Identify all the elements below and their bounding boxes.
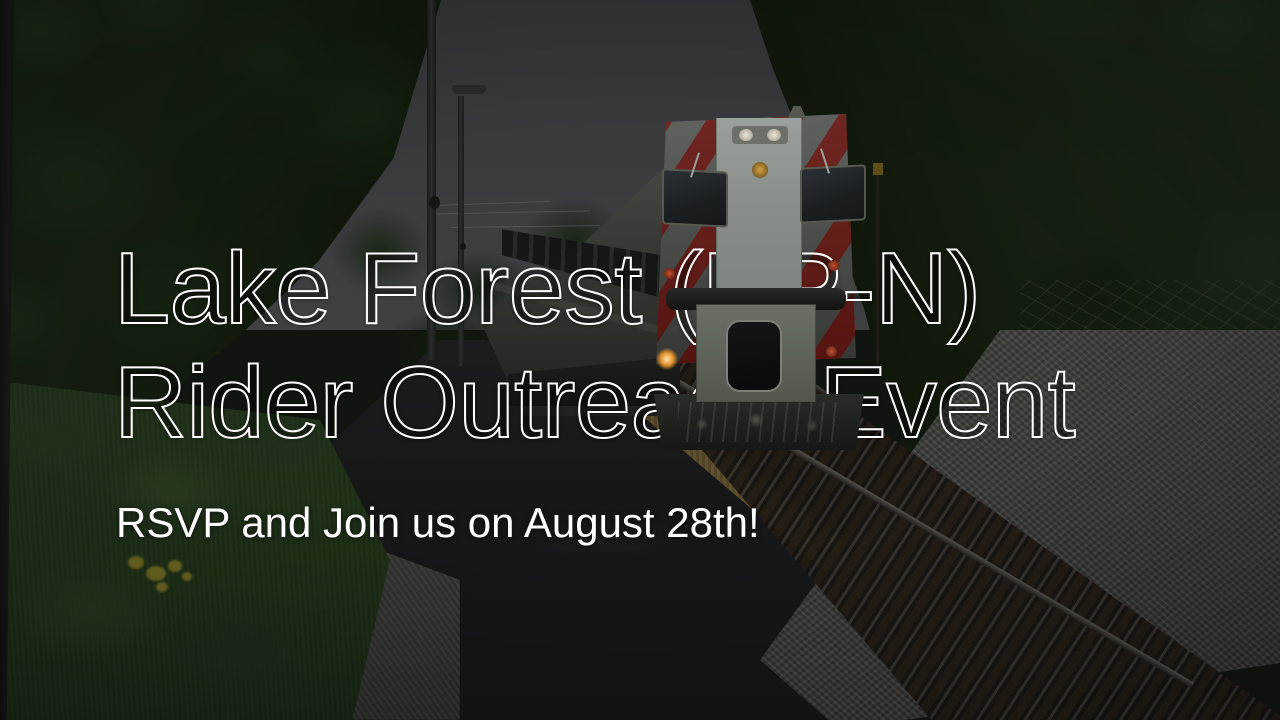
windshield-left [662,168,728,227]
wildflower [168,560,182,572]
headline-line-1: Lake Forest (UP-N) [114,232,1214,346]
train-horn [788,106,806,118]
signal-sign [873,163,883,175]
title-block: Lake Forest (UP-N) Rider Outreach Event … [114,232,1214,546]
marker-light [752,162,768,178]
side-marker-light [828,260,839,271]
slide-canvas: Lake Forest (UP-N) Rider Outreach Event … [0,0,1280,720]
wildflower [156,582,168,592]
headlight-lamp [739,129,753,141]
wildflower [128,556,144,569]
windshield-right [800,164,866,223]
headlight-cluster [732,126,788,144]
headlight-lamp [767,129,781,141]
train-truck-assembly [678,402,838,442]
cab-door-window [726,320,782,392]
pole-fixture [429,196,440,209]
side-marker-light [664,268,675,279]
street-lamp-head [452,85,486,94]
subtitle: RSVP and Join us on August 28th! [116,500,1214,546]
wildflower [146,566,166,581]
ditch-light [656,348,678,370]
side-marker-light [826,346,837,357]
wildflower [182,572,192,581]
